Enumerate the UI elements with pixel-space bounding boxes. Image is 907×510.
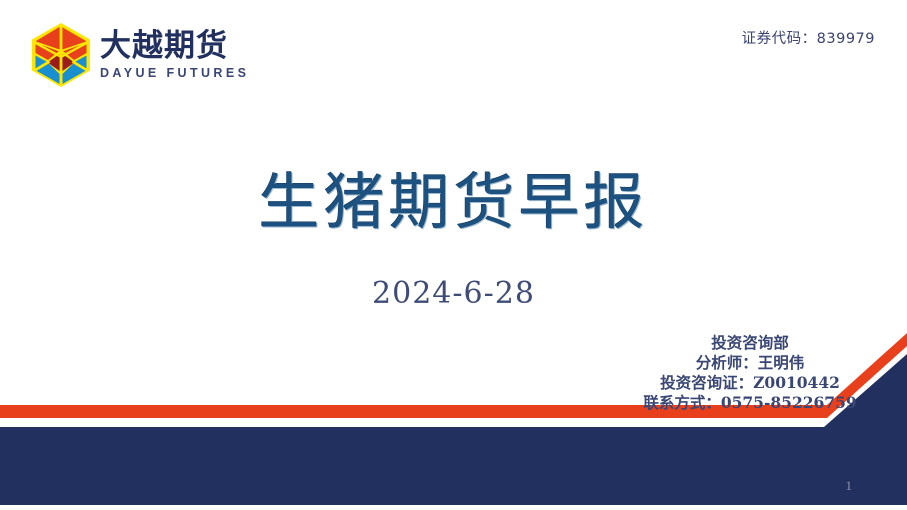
analyst-license: 投资咨询证：Z0010442 bbox=[620, 373, 880, 393]
logo-wordmark: 大越期货 DAYUE FUTURES bbox=[100, 31, 249, 80]
company-logo: 大越期货 DAYUE FUTURES bbox=[30, 22, 249, 88]
page-title: 生猪期货早报 bbox=[0, 152, 907, 241]
page-number: 1 bbox=[846, 478, 853, 494]
presentation-cover-slide: 大越期货 DAYUE FUTURES 证券代码：839979 生猪期货早报 20… bbox=[0, 0, 907, 510]
analyst-name: 分析师：王明伟 bbox=[620, 353, 880, 373]
report-date: 2024-6-28 bbox=[0, 276, 907, 311]
logo-company-name-cn: 大越期货 bbox=[100, 31, 249, 62]
analyst-info-block: 投资咨询部 分析师：王明伟 投资咨询证：Z0010442 联系方式：0575-8… bbox=[620, 333, 880, 413]
analyst-department: 投资咨询部 bbox=[620, 333, 880, 353]
analyst-contact: 联系方式：0575-85226759 bbox=[620, 393, 880, 413]
dayue-cube-logo-icon bbox=[30, 22, 92, 88]
security-code-label: 证券代码：839979 bbox=[742, 27, 875, 48]
logo-company-name-en: DAYUE FUTURES bbox=[100, 67, 249, 80]
